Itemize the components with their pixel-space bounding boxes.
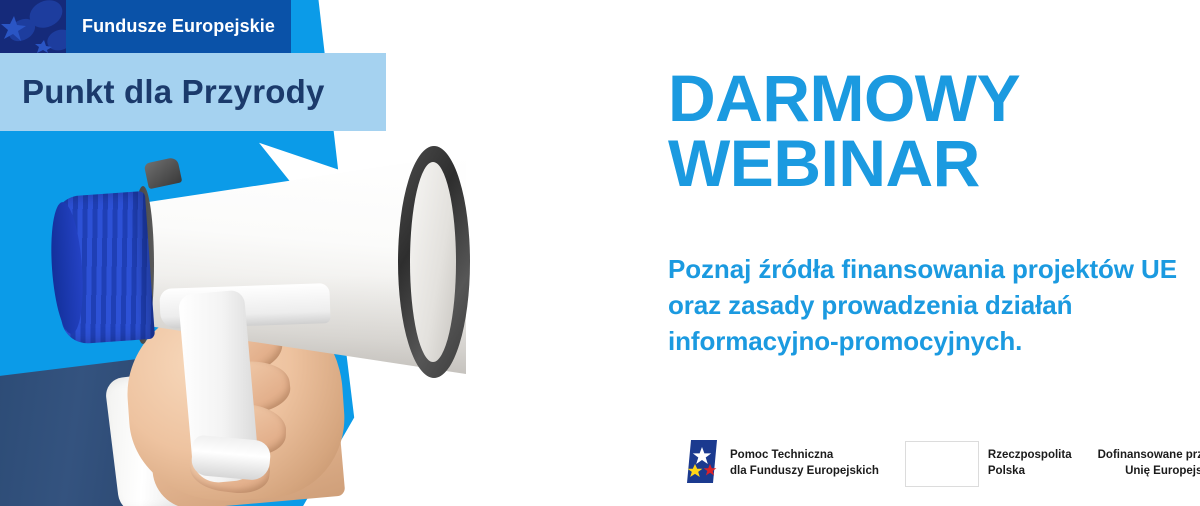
logo-dofinansowane-przez-ue: Dofinansowane przez Unię Europejską ★★★★…	[1098, 439, 1200, 489]
logo-separator-2	[1072, 464, 1098, 465]
megaphone-bell-inner	[410, 162, 456, 362]
brand-title: Fundusze Europejskie	[82, 16, 275, 37]
headline: DARMOWY WEBINAR	[668, 66, 1188, 195]
fundusze-europejskie-flag-icon	[683, 438, 721, 490]
megaphone-handle-bottom	[190, 435, 271, 482]
program-name-band: Punkt dla Przyrody	[0, 53, 386, 131]
logo-dofinansowane-line-2: Unię Europejską	[1125, 465, 1200, 477]
logo-dofinansowane-label: Dofinansowane przez Unię Europejską	[1098, 448, 1200, 480]
headline-line-1: DARMOWY	[668, 61, 1020, 135]
logo-dofinansowane-line-1: Dofinansowane przez	[1098, 449, 1200, 461]
subheadline: Poznaj źródła finansowania projektów UE …	[668, 252, 1180, 360]
logo-pomoc-techniczna-line-2: dla Funduszy Europejskich	[730, 465, 879, 477]
webinar-promo-banner: Fundusze Europejskie Punkt dla Przyrody …	[0, 0, 1200, 506]
megaphone-mic-nub	[144, 157, 183, 190]
right-text-column: DARMOWY WEBINAR Poznaj źródła finansowan…	[668, 0, 1188, 506]
subheadline-line-1: Poznaj źródła finansowania projektów	[668, 254, 1134, 284]
poland-flag-icon	[905, 441, 979, 487]
logo-pomoc-techniczna-label: Pomoc Techniczna dla Funduszy Europejski…	[730, 448, 879, 480]
logo-separator-1	[879, 464, 905, 465]
logo-rzeczpospolita-line-1: Rzeczpospolita	[988, 449, 1072, 461]
logo-pomoc-techniczna-line-1: Pomoc Techniczna	[730, 449, 833, 461]
logo-rzeczpospolita-label: Rzeczpospolita Polska	[988, 448, 1072, 480]
logo-rzeczpospolita-polska: Rzeczpospolita Polska	[905, 439, 1072, 489]
program-name: Punkt dla Przyrody	[22, 73, 325, 111]
subheadline-line-3: informacyjno-promocyjnych.	[668, 326, 1022, 356]
funding-logo-strip: Pomoc Techniczna dla Funduszy Europejski…	[683, 436, 1200, 492]
logo-rzeczpospolita-line-2: Polska	[988, 465, 1025, 477]
headline-line-2: WEBINAR	[668, 131, 1188, 196]
brand-title-bar: Fundusze Europejskie	[66, 0, 291, 53]
fundusze-europejskie-stars-logo-icon	[0, 0, 66, 53]
logo-pomoc-techniczna: Pomoc Techniczna dla Funduszy Europejski…	[683, 439, 879, 489]
